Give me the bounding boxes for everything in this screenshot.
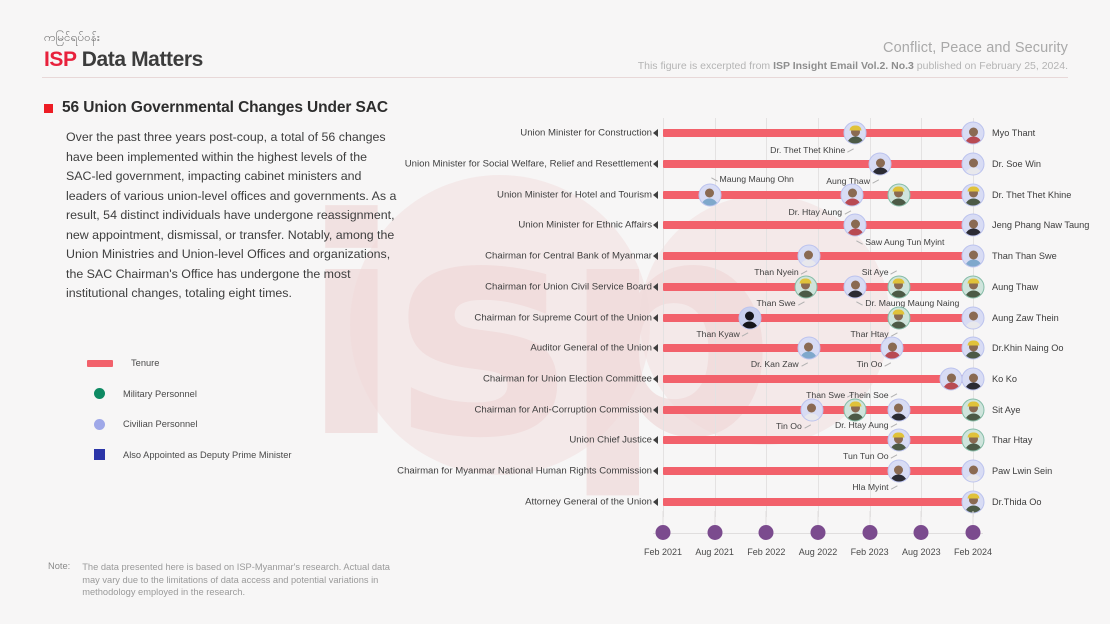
- timeline-row[interactable]: Chairman for Central Bank of MyanmarThan…: [400, 241, 1110, 272]
- tenure-bar[interactable]: [663, 283, 973, 291]
- current-holder-avatar[interactable]: [962, 153, 985, 176]
- person-avatar[interactable]: [797, 337, 820, 360]
- leader-line: [711, 177, 718, 181]
- avatar-face: [969, 250, 978, 259]
- timeline-row[interactable]: Union Chief JusticeDr. Htay AungThar Hta…: [400, 425, 1110, 456]
- current-holder-name: Myo Thant: [992, 128, 1035, 138]
- axis-tick-stem: [766, 511, 767, 525]
- row-office-label: Union Minister for Hotel and Tourism: [497, 189, 652, 200]
- row-office-label: Auditor General of the Union: [530, 343, 652, 354]
- row-office-label: Chairman for Union Civil Service Board: [485, 281, 652, 292]
- person-avatar[interactable]: [800, 398, 823, 421]
- tenure-bar[interactable]: [663, 498, 973, 506]
- axis-tick-stem: [973, 511, 974, 525]
- source-issue: ISP Insight Email Vol.2. No.3: [773, 60, 914, 72]
- avatar-body: [965, 352, 982, 360]
- legend: TenureMilitary PersonnelCivilian Personn…: [87, 348, 291, 470]
- header-divider: [42, 77, 1068, 78]
- axis-tick-dot[interactable]: [759, 525, 774, 540]
- person-avatar[interactable]: [887, 183, 910, 206]
- intro-paragraph: Over the past three years post-coup, a t…: [66, 128, 398, 304]
- person-avatar[interactable]: [844, 214, 867, 237]
- avatar-face: [969, 465, 978, 474]
- row-office-label: Chairman for Supreme Court of the Union: [474, 312, 652, 323]
- person-avatar[interactable]: [797, 245, 820, 268]
- timeline-chart: Union Minister for ConstructionDr. Thet …: [400, 110, 1110, 580]
- tenure-bar[interactable]: [663, 375, 973, 383]
- axis-tick-label: Aug 2023: [902, 547, 941, 557]
- axis-tick-dot[interactable]: [966, 525, 981, 540]
- brand-isp-text: ISP: [44, 48, 76, 71]
- avatar-cap: [893, 279, 905, 284]
- page-title: 56 Union Governmental Changes Under SAC: [44, 99, 388, 117]
- header-source: This figure is excerpted from ISP Insigh…: [638, 60, 1068, 72]
- current-holder-name: Thar Htay: [992, 435, 1032, 445]
- avatar-face: [947, 373, 956, 382]
- row-office-label: Union Minister for Ethnic Affairs: [518, 220, 652, 231]
- leader-line: [891, 393, 898, 397]
- avatar-body: [965, 290, 982, 298]
- row-office-label: Attorney General of the Union: [525, 496, 652, 507]
- avatar-body: [872, 168, 889, 176]
- timeline-row[interactable]: Auditor General of the UnionDr. Kan ZawT…: [400, 333, 1110, 364]
- person-avatar[interactable]: [940, 367, 963, 390]
- legend-item: Tenure: [87, 348, 291, 379]
- header-topic: Conflict, Peace and Security: [638, 40, 1068, 56]
- person-avatar[interactable]: [887, 306, 910, 329]
- avatar-face: [894, 465, 903, 474]
- brand-logo: ကမြင်ရပ်ဝန်း ISP Data Matters: [44, 30, 203, 72]
- person-avatar[interactable]: [887, 460, 910, 483]
- row-caret-icon: [653, 467, 658, 475]
- avatar-body: [965, 198, 982, 206]
- marker-person-name: Maung Maung Ohn: [710, 174, 794, 184]
- avatar-body: [965, 475, 982, 483]
- row-office-label: Union Minister for Construction: [520, 128, 652, 139]
- current-holder-avatar[interactable]: [962, 122, 985, 145]
- timeline-row[interactable]: Attorney General of the UnionHla MyintDr…: [400, 486, 1110, 517]
- person-avatar[interactable]: [794, 275, 817, 298]
- current-holder-avatar[interactable]: [962, 429, 985, 452]
- current-holder-avatar[interactable]: [962, 275, 985, 298]
- legend-swatch-icon: [87, 360, 113, 367]
- avatar-body: [701, 198, 718, 206]
- avatar-cap: [967, 340, 979, 345]
- row-caret-icon: [653, 191, 658, 199]
- avatar-cap: [893, 187, 905, 192]
- person-avatar[interactable]: [698, 183, 721, 206]
- timeline-row[interactable]: Chairman for Union Civil Service BoardTh…: [400, 272, 1110, 303]
- avatar-cap: [893, 310, 905, 315]
- avatar-cap: [849, 125, 861, 130]
- person-avatar[interactable]: [844, 398, 867, 421]
- current-holder-name: Dr. Thet Thet Khine: [992, 190, 1071, 200]
- leader-line: [891, 270, 898, 274]
- current-holder-avatar[interactable]: [962, 460, 985, 483]
- avatar-face: [851, 220, 860, 229]
- axis-tick-stem: [714, 511, 715, 525]
- row-caret-icon: [653, 344, 658, 352]
- legend-label: Civilian Personnel: [123, 419, 197, 429]
- axis-tick-label: Feb 2023: [851, 547, 889, 557]
- person-avatar[interactable]: [844, 275, 867, 298]
- marker-person-name: Tun Tun Oo: [843, 451, 899, 461]
- legend-swatch-icon: [94, 449, 105, 460]
- person-avatar[interactable]: [844, 122, 867, 145]
- current-holder-name: Aung Zaw Thein: [992, 313, 1059, 323]
- footnote: Note: The data presented here is based o…: [48, 561, 408, 599]
- avatar-cap: [967, 494, 979, 499]
- avatar-face: [969, 158, 978, 167]
- avatar-body: [965, 137, 982, 145]
- timeline-row[interactable]: Union Minister for Hotel and TourismMaun…: [400, 179, 1110, 210]
- page-header: ကမြင်ရပ်ဝန်း ISP Data Matters Conflict, …: [0, 0, 1110, 78]
- source-suffix: published on February 25, 2024.: [914, 60, 1068, 72]
- avatar-face: [851, 281, 860, 290]
- row-caret-icon: [653, 498, 658, 506]
- current-holder-name: Ko Ko: [992, 374, 1017, 384]
- marker-person-name: Dr. Htay Aung: [835, 420, 899, 430]
- axis-tick-label: Feb 2021: [644, 547, 682, 557]
- row-caret-icon: [653, 283, 658, 291]
- current-holder-avatar[interactable]: [962, 337, 985, 360]
- row-caret-icon: [653, 375, 658, 383]
- avatar-face: [969, 220, 978, 229]
- avatar-face: [969, 127, 978, 136]
- avatar-face: [876, 158, 885, 167]
- tenure-bar[interactable]: [663, 129, 973, 137]
- row-caret-icon: [653, 436, 658, 444]
- axis-tick-stem: [921, 511, 922, 525]
- avatar-body: [965, 229, 982, 237]
- current-holder-name: Jeng Phang Naw Taung: [992, 220, 1089, 230]
- current-holder-name: Sit Aye: [992, 405, 1020, 415]
- axis-tick-dot[interactable]: [914, 525, 929, 540]
- avatar-cap: [967, 402, 979, 407]
- avatar-face: [969, 312, 978, 321]
- header-meta: Conflict, Peace and Security This figure…: [638, 40, 1068, 72]
- marker-person-name: Thein Soe: [849, 390, 899, 400]
- legend-swatch-icon: [94, 388, 105, 399]
- person-avatar[interactable]: [841, 183, 864, 206]
- avatar-body: [890, 290, 907, 298]
- title-text: 56 Union Governmental Changes Under SAC: [62, 99, 388, 117]
- avatar-face: [848, 189, 857, 198]
- axis-tick-label: Aug 2022: [799, 547, 838, 557]
- legend-label: Also Appointed as Deputy Prime Minister: [123, 450, 291, 460]
- avatar-body: [847, 137, 864, 145]
- row-office-label: Chairman for Union Election Committee: [483, 373, 652, 384]
- avatar-body: [965, 444, 982, 452]
- row-caret-icon: [653, 221, 658, 229]
- avatar-face: [969, 373, 978, 382]
- brand-title: ISP Data Matters: [44, 48, 203, 72]
- row-caret-icon: [653, 252, 658, 260]
- avatar-face: [745, 312, 754, 321]
- timeline-row[interactable]: Chairman for Union Election CommitteeKo …: [400, 364, 1110, 395]
- brand-burmese-text: ကမြင်ရပ်ဝန်း: [44, 30, 203, 47]
- tenure-bar[interactable]: [663, 221, 973, 229]
- avatar-cap: [849, 402, 861, 407]
- current-holder-avatar[interactable]: [962, 398, 985, 421]
- current-holder-name: Than Than Swe: [992, 251, 1057, 261]
- avatar-body: [965, 413, 982, 421]
- current-holder-avatar[interactable]: [962, 245, 985, 268]
- avatar-cap: [967, 432, 979, 437]
- avatar-face: [705, 189, 714, 198]
- current-holder-name: Dr.Khin Naing Oo: [992, 343, 1064, 353]
- current-holder-name: Aung Thaw: [992, 282, 1038, 292]
- avatar-cap: [967, 279, 979, 284]
- avatar-body: [890, 198, 907, 206]
- infographic-root: isp ကမြင်ရပ်ဝန်း ISP Data Matters Confli…: [0, 0, 1110, 624]
- marker-person-name: Hla Myint: [852, 482, 898, 492]
- row-office-label: Union Minister for Social Welfare, Relie…: [405, 159, 652, 170]
- timeline-row[interactable]: Chairman for Supreme Court of the UnionT…: [400, 302, 1110, 333]
- person-avatar[interactable]: [887, 275, 910, 298]
- marker-person-name: Than Swe: [806, 390, 855, 400]
- axis-tick-stem: [663, 511, 664, 525]
- person-avatar[interactable]: [738, 306, 761, 329]
- tenure-bar[interactable]: [663, 160, 973, 168]
- axis-tick-dot[interactable]: [811, 525, 826, 540]
- person-avatar[interactable]: [887, 398, 910, 421]
- timeline-row[interactable]: Union Minister for Ethnic AffairsSaw Aun…: [400, 210, 1110, 241]
- footnote-value: The data presented here is based on ISP-…: [82, 561, 408, 599]
- timeline-row[interactable]: Chairman for Anti-Corruption CommissionT…: [400, 394, 1110, 425]
- leader-line: [891, 454, 898, 458]
- title-bullet-icon: [44, 104, 53, 113]
- brand-datamatters-text: Data Matters: [76, 48, 203, 71]
- tenure-bar[interactable]: [663, 467, 973, 475]
- timeline-row[interactable]: Chairman for Myanmar National Human Righ…: [400, 456, 1110, 487]
- avatar-cap: [800, 279, 812, 284]
- current-holder-avatar[interactable]: [962, 214, 985, 237]
- legend-item: Civilian Personnel: [87, 409, 291, 440]
- avatar-body: [965, 382, 982, 390]
- axis-tick-dot[interactable]: [656, 525, 671, 540]
- footnote-key: Note:: [48, 561, 70, 599]
- avatar-face: [804, 342, 813, 351]
- row-caret-icon: [653, 406, 658, 414]
- tenure-bar[interactable]: [663, 314, 973, 322]
- timeline-row[interactable]: Union Minister for ConstructionDr. Thet …: [400, 118, 1110, 149]
- row-caret-icon: [653, 160, 658, 168]
- source-prefix: This figure is excerpted from: [638, 60, 773, 72]
- axis-tick-stem: [869, 511, 870, 525]
- person-avatar[interactable]: [887, 429, 910, 452]
- current-holder-avatar[interactable]: [962, 367, 985, 390]
- legend-item: Also Appointed as Deputy Prime Minister: [87, 440, 291, 471]
- axis-tick-label: Aug 2021: [695, 547, 734, 557]
- row-office-label: Chairman for Myanmar National Human Righ…: [397, 466, 652, 477]
- person-avatar[interactable]: [881, 337, 904, 360]
- avatar-body: [943, 382, 960, 390]
- person-avatar[interactable]: [869, 153, 892, 176]
- avatar-face: [888, 342, 897, 351]
- leader-line: [891, 424, 898, 428]
- axis-tick-stem: [818, 511, 819, 525]
- avatar-cap: [893, 432, 905, 437]
- avatar-cap: [967, 187, 979, 192]
- row-caret-icon: [653, 129, 658, 137]
- avatar-face: [894, 404, 903, 413]
- current-holder-avatar[interactable]: [962, 183, 985, 206]
- tenure-bar[interactable]: [663, 436, 973, 444]
- current-holder-name: Paw Lwin Sein: [992, 466, 1052, 476]
- avatar-body: [847, 229, 864, 237]
- current-holder-name: Dr.Thida Oo: [992, 497, 1042, 507]
- legend-label: Military Personnel: [123, 389, 197, 399]
- avatar-face: [804, 250, 813, 259]
- avatar-body: [844, 198, 861, 206]
- row-caret-icon: [653, 314, 658, 322]
- leader-line: [891, 485, 898, 489]
- avatar-body: [965, 260, 982, 268]
- row-office-label: Chairman for Central Bank of Myanmar: [485, 251, 652, 262]
- row-office-label: Union Chief Justice: [569, 435, 652, 446]
- current-holder-avatar[interactable]: [962, 490, 985, 513]
- legend-swatch-icon: [94, 419, 105, 430]
- axis-tick-label: Feb 2022: [747, 547, 785, 557]
- marker-person-name: Sit Aye: [862, 267, 899, 277]
- avatar-face: [807, 404, 816, 413]
- avatar-body: [965, 168, 982, 176]
- legend-item: Military Personnel: [87, 379, 291, 410]
- avatar-body: [965, 321, 982, 329]
- current-holder-avatar[interactable]: [962, 306, 985, 329]
- axis-tick-label: Feb 2024: [954, 547, 992, 557]
- legend-label: Tenure: [131, 358, 159, 368]
- row-office-label: Chairman for Anti-Corruption Commission: [474, 404, 652, 415]
- axis-tick-dot[interactable]: [862, 525, 877, 540]
- current-holder-name: Dr. Soe Win: [992, 159, 1041, 169]
- axis-tick-dot[interactable]: [707, 525, 722, 540]
